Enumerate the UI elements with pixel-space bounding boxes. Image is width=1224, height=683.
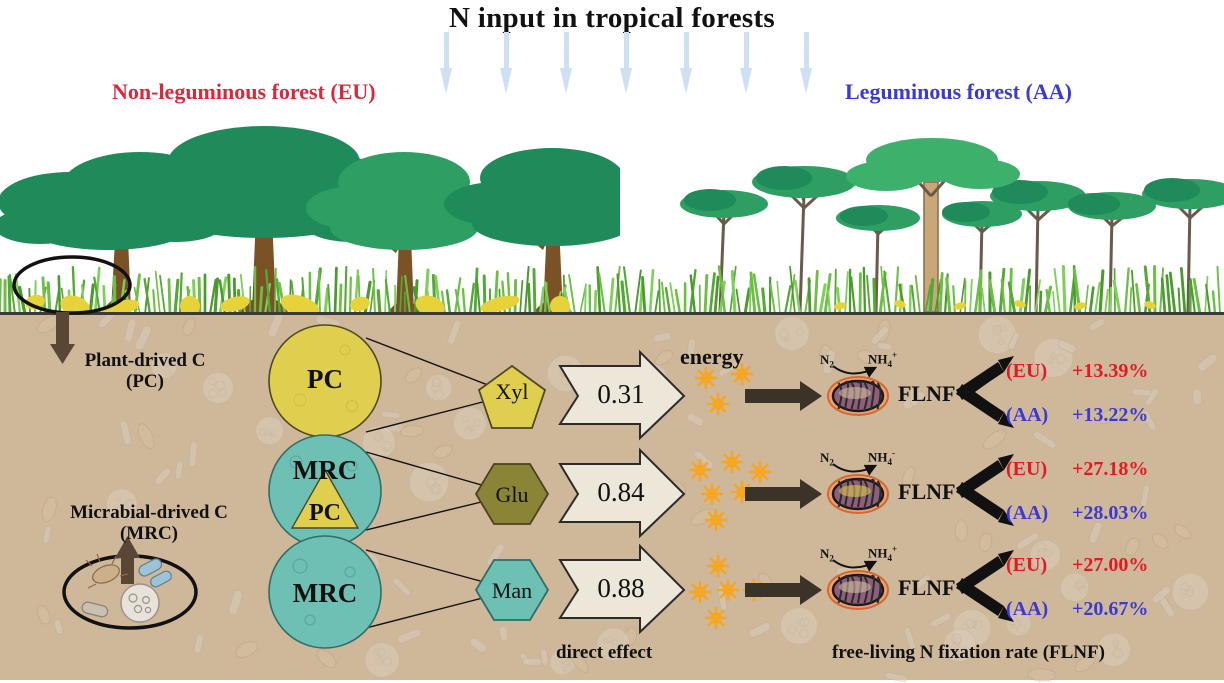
flnf-label-row-2: FLNF [898, 479, 955, 505]
plant-derived-c-label: Plant-drived C (PC) [30, 350, 260, 393]
sugar-shape-xyl[interactable] [479, 366, 545, 428]
result-eu-row-1: (EU)+13.39% [1006, 360, 1148, 383]
gas-label-n2-row-3: N2 [820, 546, 834, 564]
effect-value-row-2: 0.84 [576, 477, 666, 508]
flnf-label-row-3: FLNF [898, 575, 955, 601]
result-aa-row-2: (AA)+28.03% [1006, 502, 1148, 525]
energy-to-cell-arrows [745, 381, 822, 605]
result-tag-eu-row-1: (EU) [1006, 360, 1072, 383]
caption-flnf: free-living N fixation rate (FLNF) [832, 642, 1105, 664]
result-tag-aa-row-2: (AA) [1006, 502, 1072, 525]
flnf-split-brackets [956, 356, 1014, 622]
gas-label-n2-row-2: N2 [820, 450, 834, 468]
source-circle-pc[interactable] [269, 325, 381, 437]
energy-label: energy [680, 344, 744, 370]
sugar-shape-man[interactable] [476, 560, 548, 620]
source-circle-mrc[interactable] [269, 536, 381, 648]
energy-particle [750, 462, 770, 482]
flnf-label-row-1: FLNF [898, 381, 955, 407]
caption-direct-effect: direct effect [556, 642, 652, 664]
plant-litter-callout-ellipse [14, 257, 130, 313]
effect-value-row-1: 0.31 [576, 379, 666, 410]
gas-label-nh4-row-1: NH4+ [868, 350, 897, 369]
gas-label-n2-row-1: N2 [820, 352, 834, 370]
energy-particle [702, 484, 722, 504]
energy-particle [706, 510, 726, 530]
sugar-shape-glu[interactable] [476, 464, 548, 524]
energy-particle [690, 460, 710, 480]
result-value-eu-row-1: +13.39% [1072, 360, 1148, 382]
result-aa-row-3: (AA)+20.67% [1006, 598, 1148, 621]
result-value-aa-row-2: +28.03% [1072, 502, 1148, 524]
result-value-eu-row-3: +27.00% [1072, 554, 1148, 576]
infographic-root: N input in tropical forests Non-legumino… [0, 0, 1224, 680]
energy-particle [696, 368, 716, 388]
result-tag-aa-row-1: (AA) [1006, 404, 1072, 427]
gas-label-nh4-row-3: NH4+ [868, 544, 897, 563]
energy-particle [708, 394, 728, 414]
n-fixing-cell[interactable] [828, 377, 888, 415]
microbial-derived-c-label: Micrabial-drived C (MRC) [14, 502, 284, 545]
result-value-aa-row-3: +20.67% [1072, 598, 1148, 620]
energy-particle [706, 608, 726, 628]
effect-value-row-3: 0.88 [576, 573, 666, 604]
energy-particle [718, 580, 738, 600]
n-fixing-cells [828, 377, 888, 609]
result-tag-eu-row-2: (EU) [1006, 458, 1072, 481]
energy-particle [722, 452, 742, 472]
result-aa-row-1: (AA)+13.22% [1006, 404, 1148, 427]
gas-label-nh4-row-2: NH4- [868, 448, 895, 467]
result-eu-row-2: (EU)+27.18% [1006, 458, 1148, 481]
result-value-eu-row-2: +27.18% [1072, 458, 1148, 480]
energy-particle [690, 582, 710, 602]
n-fixing-cell[interactable] [828, 475, 888, 513]
result-value-aa-row-1: +13.22% [1072, 404, 1148, 426]
result-tag-aa-row-3: (AA) [1006, 598, 1072, 621]
n-fixing-cell[interactable] [828, 571, 888, 609]
energy-particle [708, 556, 728, 576]
result-tag-eu-row-3: (EU) [1006, 554, 1072, 577]
result-eu-row-3: (EU)+27.00% [1006, 554, 1148, 577]
